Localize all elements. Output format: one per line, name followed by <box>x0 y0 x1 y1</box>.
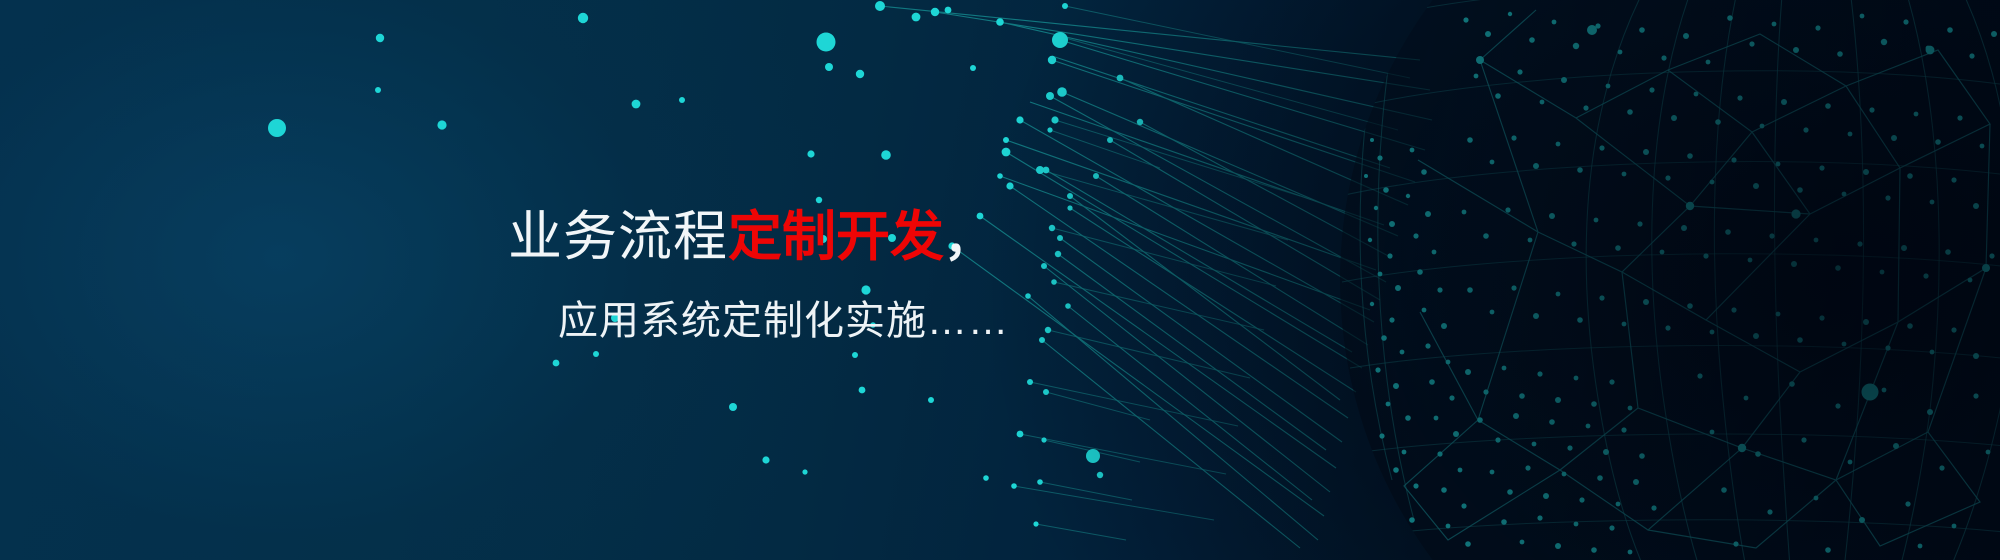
headline-accent: 定制开发 <box>728 207 944 267</box>
headline: 业务流程定制开发， <box>508 206 1009 271</box>
banner-copy: 业务流程定制开发， 应用系统定制化实施…… <box>508 206 1009 345</box>
hero-banner: 业务流程定制开发， 应用系统定制化实施…… <box>0 0 2000 560</box>
subheadline: 应用系统定制化实施…… <box>558 297 1009 345</box>
headline-plain: 业务流程 <box>508 207 728 267</box>
headline-comma: ， <box>944 213 993 266</box>
